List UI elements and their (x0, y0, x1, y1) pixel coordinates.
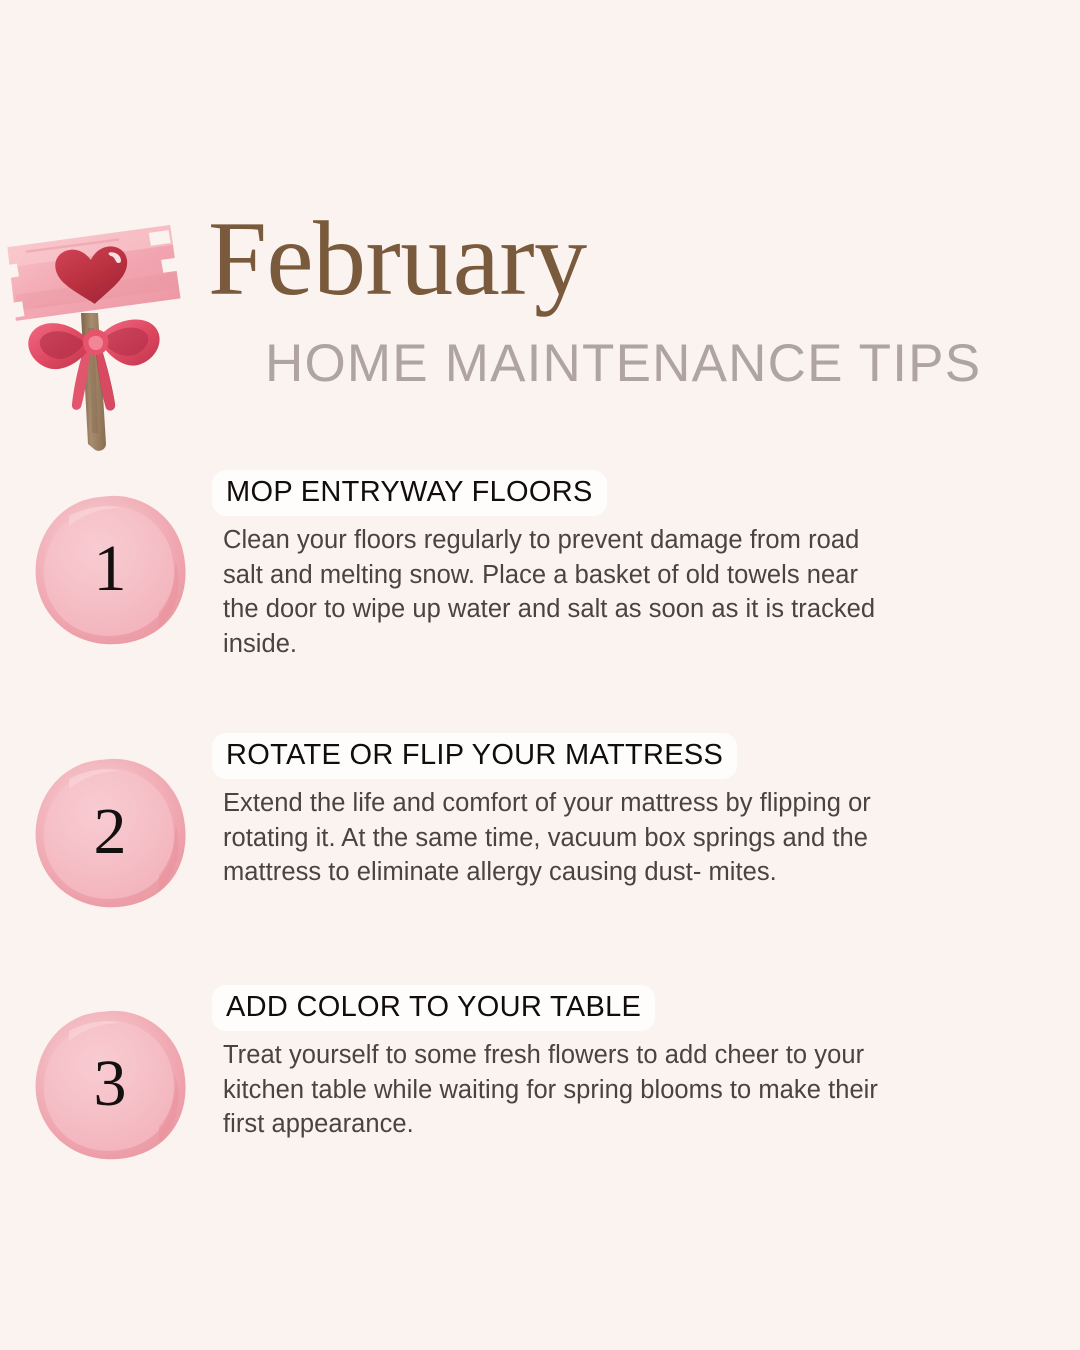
tip-heading: ADD COLOR TO YOUR TABLE (212, 985, 655, 1031)
title-block: February HOME MAINTENANCE TIPS (0, 0, 1080, 470)
page-subtitle: HOME MAINTENANCE TIPS (265, 336, 981, 391)
tip-body: ADD COLOR TO YOUR TABLE Treat yourself t… (212, 985, 902, 1142)
tip-heading-row: ADD COLOR TO YOUR TABLE (212, 985, 902, 1031)
infographic-page: February HOME MAINTENANCE TIPS (0, 0, 1080, 1350)
header-section: February HOME MAINTENANCE TIPS (0, 0, 1080, 470)
tip-number: 1 (31, 492, 189, 650)
tip-heading: ROTATE OR FLIP YOUR MATTRESS (212, 733, 737, 779)
page-title: February (208, 203, 587, 315)
tip-heading: MOP ENTRYWAY FLOORS (212, 470, 607, 516)
tip-description: Treat yourself to some fresh flowers to … (223, 1038, 895, 1142)
tip-heading-row: ROTATE OR FLIP YOUR MATTRESS (212, 733, 902, 779)
tip-number-badge: 3 (31, 1007, 189, 1165)
tip-number-badge: 2 (31, 755, 189, 913)
tip-number: 3 (31, 1007, 189, 1165)
tip-number-badge: 1 (31, 492, 189, 650)
tip-body: MOP ENTRYWAY FLOORS Clean your floors re… (212, 470, 902, 662)
tip-description: Clean your floors regularly to prevent d… (223, 523, 895, 662)
tip-body: ROTATE OR FLIP YOUR MATTRESS Extend the … (212, 733, 902, 890)
tip-number: 2 (31, 755, 189, 913)
tip-description: Extend the life and comfort of your matt… (223, 786, 895, 890)
tip-heading-row: MOP ENTRYWAY FLOORS (212, 470, 902, 516)
